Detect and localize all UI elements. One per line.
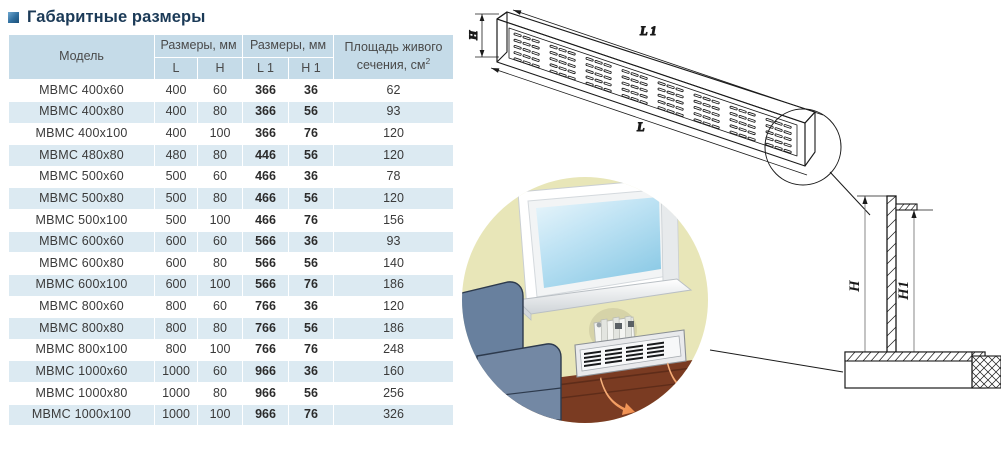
- louver-slot: [595, 79, 602, 83]
- cell-model: МВМС 400x80: [9, 102, 154, 123]
- louver-slot: [676, 88, 683, 92]
- dimension-label-h-isometric: H: [466, 30, 480, 41]
- cell-area: 160: [334, 361, 453, 382]
- cell-h: 100: [198, 340, 242, 361]
- cell-h1: 56: [289, 383, 333, 404]
- table-row: МВМС 600x60600605663693: [9, 232, 453, 253]
- cell-model: МВМС 500x60: [9, 167, 154, 188]
- louver-slot: [694, 100, 701, 104]
- louver-slot: [676, 100, 683, 104]
- cell-l: 400: [155, 80, 197, 101]
- dimension-label-l1: L 1: [639, 24, 657, 38]
- dimension-label-l: L: [636, 120, 645, 134]
- cell-model: МВМС 400x100: [9, 124, 154, 145]
- louver-slot: [568, 70, 575, 74]
- table-row: МВМС 1000x6010006096636160: [9, 361, 453, 382]
- louver-slot: [595, 73, 602, 77]
- cell-l1: 566: [243, 253, 288, 274]
- louver-slot: [703, 97, 710, 101]
- cell-l: 500: [155, 167, 197, 188]
- cell-h: 80: [198, 318, 242, 339]
- dimension-l: [491, 68, 807, 175]
- cell-model: МВМС 1000x60: [9, 361, 154, 382]
- louver-slot: [622, 82, 629, 86]
- cell-h1: 56: [289, 145, 333, 166]
- louver-slot: [640, 76, 647, 80]
- louver-slot: [604, 82, 611, 86]
- table-body: МВМС 400x60400603663662МВМС 400x80400803…: [9, 80, 453, 425]
- cell-area: 256: [334, 383, 453, 404]
- louver-slot: [622, 70, 629, 74]
- louver-slot: [766, 143, 773, 147]
- louver-slot: [703, 103, 710, 107]
- louver-slot: [523, 42, 530, 46]
- cell-h: 60: [198, 361, 242, 382]
- cell-h1: 36: [289, 80, 333, 101]
- louver-slot: [658, 88, 665, 92]
- louver-slot: [559, 48, 566, 52]
- louver-slot: [568, 64, 575, 68]
- louver-slot: [550, 70, 557, 74]
- louver-slot: [622, 94, 629, 98]
- cell-l1: 466: [243, 188, 288, 209]
- table-header-row-1: Модель Размеры, мм Размеры, мм Площадь ж…: [9, 35, 453, 57]
- cell-l1: 966: [243, 361, 288, 382]
- cell-l: 600: [155, 232, 197, 253]
- louver-slot: [559, 73, 566, 77]
- col-header-l: L: [155, 58, 197, 80]
- louver-slot: [703, 116, 710, 120]
- louver-slots: [514, 33, 791, 153]
- table-row: МВМС 800x608006076636120: [9, 297, 453, 318]
- isometric-grille-drawing: H L 1 L: [466, 10, 870, 215]
- cell-h1: 56: [289, 253, 333, 274]
- col-header-area-sup: 2: [425, 56, 430, 66]
- cell-h: 60: [198, 80, 242, 101]
- louver-slot: [631, 97, 638, 101]
- cell-l: 500: [155, 188, 197, 209]
- col-header-model: Модель: [9, 35, 154, 79]
- louver-slot: [523, 36, 530, 40]
- page-title-label: Габаритные размеры: [27, 8, 205, 27]
- cell-l1: 966: [243, 405, 288, 426]
- cell-l1: 766: [243, 297, 288, 318]
- louver-slot: [739, 134, 746, 138]
- louver-slot: [784, 131, 791, 135]
- louver-slot: [703, 122, 710, 126]
- section-face-plate: [887, 196, 896, 372]
- cell-h1: 36: [289, 232, 333, 253]
- louver-slot: [775, 128, 782, 132]
- louver-slot: [532, 39, 539, 43]
- table-row: МВМС 1000x8010008096656256: [9, 383, 453, 404]
- dimension-label-h-section: H: [847, 279, 863, 293]
- louver-slot: [784, 143, 791, 147]
- cell-l: 800: [155, 318, 197, 339]
- cell-l: 600: [155, 253, 197, 274]
- louver-slot: [766, 118, 773, 122]
- louver-slot: [775, 146, 782, 150]
- table-row: МВМС 480x804808044656120: [9, 145, 453, 166]
- louver-slot: [730, 125, 737, 129]
- cell-model: МВМС 480x80: [9, 145, 154, 166]
- louver-slot: [604, 64, 611, 68]
- louver-slot: [712, 125, 719, 129]
- louver-slot: [532, 45, 539, 49]
- louver-slot: [514, 33, 521, 37]
- louver-slot: [748, 131, 755, 135]
- louver-slot: [667, 103, 674, 107]
- louver-slot: [523, 48, 530, 52]
- cell-model: МВМС 1000x100: [9, 405, 154, 426]
- col-header-group-outer: Размеры, мм: [155, 35, 242, 57]
- louver-slot: [784, 137, 791, 141]
- cell-l: 500: [155, 210, 197, 231]
- table-row: МВМС 600x10060010056676186: [9, 275, 453, 296]
- cell-area: 186: [334, 318, 453, 339]
- louver-slot: [730, 119, 737, 123]
- louver-slot: [568, 51, 575, 55]
- louver-slot: [694, 113, 701, 117]
- louver-slot: [604, 88, 611, 92]
- cell-area: 186: [334, 275, 453, 296]
- col-header-area: Площадь живого сечения, см2: [334, 35, 453, 79]
- cell-l1: 446: [243, 145, 288, 166]
- drawings-panel: H L 1 L: [455, 0, 1001, 464]
- louver-slot: [604, 70, 611, 74]
- cell-area: 326: [334, 405, 453, 426]
- cell-model: МВМС 800x60: [9, 297, 154, 318]
- cell-area: 120: [334, 145, 453, 166]
- table-row: МВМС 400x10040010036676120: [9, 124, 453, 145]
- cell-h1: 76: [289, 210, 333, 231]
- louver-slot: [694, 94, 701, 98]
- cell-h1: 76: [289, 340, 333, 361]
- cell-area: 78: [334, 167, 453, 188]
- louver-slot: [532, 58, 539, 62]
- louver-slot: [748, 112, 755, 116]
- louver-slot: [658, 100, 665, 104]
- cell-h: 80: [198, 188, 242, 209]
- table-row: МВМС 600x806008056656140: [9, 253, 453, 274]
- col-header-h: H: [198, 58, 242, 80]
- plan-leader-line: [710, 350, 843, 372]
- louver-slot: [586, 64, 593, 68]
- cell-area: 93: [334, 102, 453, 123]
- louver-slot: [631, 73, 638, 77]
- cell-l1: 466: [243, 167, 288, 188]
- louver-slot: [775, 134, 782, 138]
- louver-slot: [748, 137, 755, 141]
- louver-slot: [748, 125, 755, 129]
- louver-slot: [739, 115, 746, 119]
- cell-area: 156: [334, 210, 453, 231]
- louver-slot: [766, 137, 773, 141]
- cell-area: 120: [334, 188, 453, 209]
- cell-h1: 56: [289, 102, 333, 123]
- cell-l: 1000: [155, 405, 197, 426]
- louver-slot: [640, 82, 647, 86]
- louver-slot: [550, 64, 557, 68]
- cell-area: 120: [334, 124, 453, 145]
- cell-l1: 966: [243, 383, 288, 404]
- room-installation-illustration: [455, 177, 708, 423]
- cell-l1: 366: [243, 80, 288, 101]
- louver-slot: [586, 57, 593, 61]
- cell-h1: 56: [289, 318, 333, 339]
- cell-area: 248: [334, 340, 453, 361]
- louver-slot: [532, 52, 539, 56]
- cell-l: 480: [155, 145, 197, 166]
- louver-slot: [622, 88, 629, 92]
- illustration-scene: [455, 177, 708, 423]
- cell-l: 400: [155, 102, 197, 123]
- table-row: МВМС 400x60400603663662: [9, 80, 453, 101]
- louver-slot: [523, 55, 530, 59]
- louver-slot: [550, 51, 557, 55]
- louver-slot: [559, 67, 566, 71]
- cell-l: 800: [155, 297, 197, 318]
- louver-slot: [631, 91, 638, 95]
- cell-h: 80: [198, 383, 242, 404]
- cell-l1: 766: [243, 318, 288, 339]
- louver-slot: [712, 100, 719, 104]
- cell-l: 1000: [155, 361, 197, 382]
- louver-slot: [514, 52, 521, 56]
- louver-slot: [514, 45, 521, 49]
- cell-model: МВМС 1000x80: [9, 383, 154, 404]
- cell-l1: 566: [243, 232, 288, 253]
- louver-slot: [676, 107, 683, 111]
- louver-slot: [784, 149, 791, 153]
- cell-l1: 366: [243, 102, 288, 123]
- louver-slot: [667, 110, 674, 114]
- cell-h: 60: [198, 232, 242, 253]
- cell-area: 140: [334, 253, 453, 274]
- dimensions-table-wrapper: Модель Размеры, мм Размеры, мм Площадь ж…: [8, 34, 449, 426]
- table-row: МВМС 500x805008046656120: [9, 188, 453, 209]
- cell-h: 100: [198, 275, 242, 296]
- louver-slot: [631, 79, 638, 83]
- dimension-label-h1-section: H1: [896, 281, 912, 301]
- cell-h: 80: [198, 145, 242, 166]
- louver-slot: [514, 39, 521, 43]
- louver-slot: [568, 58, 575, 62]
- col-header-h1: H 1: [289, 58, 333, 80]
- louver-slot: [667, 97, 674, 101]
- louver-slot: [739, 109, 746, 113]
- louver-slot: [730, 131, 737, 135]
- col-header-group-inner: Размеры, мм: [243, 35, 333, 57]
- louver-slot: [640, 94, 647, 98]
- cell-area: 62: [334, 80, 453, 101]
- louver-slot: [730, 106, 737, 110]
- table-row: МВМС 800x808008076656186: [9, 318, 453, 339]
- louver-slot: [568, 76, 575, 80]
- cell-h: 60: [198, 167, 242, 188]
- louver-slot: [775, 121, 782, 125]
- table-row: МВМС 800x10080010076676248: [9, 340, 453, 361]
- louver-slot: [550, 45, 557, 49]
- louver-slot: [532, 64, 539, 68]
- table-row: МВМС 500x60500604663678: [9, 167, 453, 188]
- louver-slot: [640, 101, 647, 105]
- table-row: МВМС 500x10050010046676156: [9, 210, 453, 231]
- cell-h1: 56: [289, 188, 333, 209]
- cell-l: 600: [155, 275, 197, 296]
- cell-model: МВМС 500x100: [9, 210, 154, 231]
- cell-h: 80: [198, 102, 242, 123]
- cell-l1: 366: [243, 124, 288, 145]
- louver-slot: [586, 82, 593, 86]
- square-bullet-icon: [8, 12, 19, 23]
- louver-slot: [640, 88, 647, 92]
- cell-l: 800: [155, 340, 197, 361]
- louver-slot: [667, 91, 674, 95]
- louver-slot: [712, 106, 719, 110]
- louver-slot: [658, 94, 665, 98]
- page-root: Габаритные размеры Модель Размеры, мм Ра…: [0, 0, 1001, 464]
- cell-model: МВМС 800x100: [9, 340, 154, 361]
- louver-slot: [748, 119, 755, 123]
- table-row: МВМС 400x80400803665693: [9, 102, 453, 123]
- louver-slot: [676, 94, 683, 98]
- louver-slot: [658, 82, 665, 86]
- table-row: МВМС 1000x100100010096676326: [9, 405, 453, 426]
- cell-h: 60: [198, 297, 242, 318]
- cell-model: МВМС 600x100: [9, 275, 154, 296]
- louver-slot: [703, 109, 710, 113]
- detail-leader-line: [830, 172, 870, 215]
- cell-l: 400: [155, 124, 197, 145]
- louver-slot: [658, 107, 665, 111]
- louver-slot: [784, 125, 791, 129]
- louver-slot: [622, 76, 629, 80]
- cell-area: 93: [334, 232, 453, 253]
- cell-h: 100: [198, 405, 242, 426]
- plan-section-drawing: [710, 350, 1001, 388]
- cell-model: МВМС 500x80: [9, 188, 154, 209]
- cell-h1: 36: [289, 297, 333, 318]
- page-title: Габаритные размеры: [8, 8, 205, 27]
- col-header-l1: L 1: [243, 58, 288, 80]
- louver-slot: [739, 122, 746, 126]
- louver-slot: [586, 70, 593, 74]
- cell-l1: 766: [243, 340, 288, 361]
- louver-slot: [559, 54, 566, 58]
- cell-l1: 466: [243, 210, 288, 231]
- cell-h1: 36: [289, 361, 333, 382]
- louver-slot: [586, 76, 593, 80]
- louver-slot: [595, 85, 602, 89]
- cell-h1: 76: [289, 405, 333, 426]
- louver-slot: [523, 61, 530, 65]
- louver-slot: [667, 85, 674, 89]
- louver-slot: [676, 113, 683, 117]
- louver-slot: [604, 76, 611, 80]
- cell-model: МВМС 800x80: [9, 318, 154, 339]
- louver-slot: [739, 128, 746, 132]
- cell-h: 100: [198, 124, 242, 145]
- cell-model: МВМС 400x60: [9, 80, 154, 101]
- col-header-area-line1: Площадь живого: [345, 40, 443, 54]
- cross-section-drawing: H H1: [847, 196, 933, 372]
- louver-slot: [595, 67, 602, 71]
- cell-h1: 76: [289, 275, 333, 296]
- cell-h1: 76: [289, 124, 333, 145]
- cell-model: МВМС 600x80: [9, 253, 154, 274]
- cell-h: 80: [198, 253, 242, 274]
- louver-slot: [631, 85, 638, 89]
- cell-l1: 566: [243, 275, 288, 296]
- louver-slot: [550, 58, 557, 62]
- col-header-area-line2: сечения, см: [357, 58, 426, 72]
- cell-h1: 36: [289, 167, 333, 188]
- louver-slot: [712, 113, 719, 117]
- table-head: Модель Размеры, мм Размеры, мм Площадь ж…: [9, 35, 453, 79]
- dimensions-table: Модель Размеры, мм Размеры, мм Площадь ж…: [8, 34, 454, 426]
- louver-slot: [730, 112, 737, 116]
- louver-slot: [712, 119, 719, 123]
- louver-slot: [694, 119, 701, 123]
- window-frame-right: [661, 180, 679, 284]
- cell-area: 120: [334, 297, 453, 318]
- cell-model: МВМС 600x60: [9, 232, 154, 253]
- louver-slot: [595, 60, 602, 64]
- cell-l: 1000: [155, 383, 197, 404]
- louver-slot: [514, 58, 521, 62]
- louver-slot: [775, 140, 782, 144]
- cell-h: 100: [198, 210, 242, 231]
- louver-slot: [559, 61, 566, 65]
- louver-slot: [694, 106, 701, 110]
